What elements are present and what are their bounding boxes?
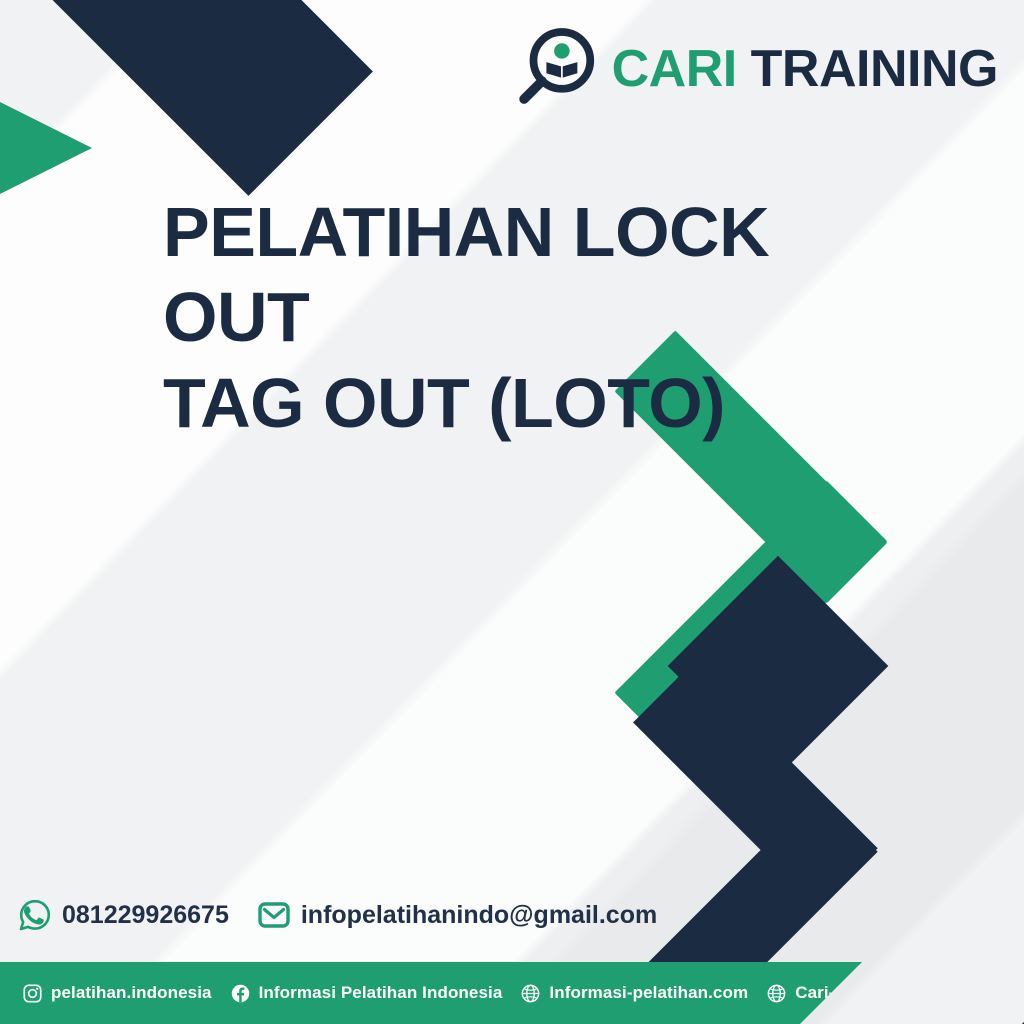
whatsapp-icon — [18, 898, 52, 932]
footer-instagram-handle: pelatihan.indonesia — [51, 983, 212, 1003]
email-icon — [257, 898, 291, 932]
page-title: PELATIHAN LOCK OUT TAG OUT (LOTO) — [163, 190, 923, 446]
instagram-icon — [22, 983, 43, 1004]
page-title-line-1: PELATIHAN LOCK OUT — [163, 190, 923, 361]
footer-item-instagram[interactable]: pelatihan.indonesia — [22, 983, 212, 1004]
contact-email[interactable]: infopelatihanindo@gmail.com — [257, 898, 657, 932]
facebook-icon — [230, 983, 251, 1004]
decor-right-navy-chevron — [784, 672, 1024, 1002]
contact-whatsapp[interactable]: 081229926675 — [18, 898, 229, 932]
brand-name-part1: CARI — [612, 40, 737, 98]
poster-canvas: CARI TRAINING PELATIHAN LOCK OUT TAG OUT… — [0, 0, 1024, 1024]
contact-bar: 081229926675 infopelatihanindo@gmail.com — [18, 898, 657, 932]
page-title-line-2: TAG OUT (LOTO) — [163, 361, 923, 446]
brand-logo: CARI TRAINING — [512, 26, 998, 112]
contact-email-address: infopelatihanindo@gmail.com — [301, 901, 657, 930]
footer-website-1: Informasi-pelatihan.com — [549, 983, 748, 1003]
magnifier-book-person-icon — [512, 26, 598, 112]
globe-icon — [766, 983, 787, 1004]
brand-wordmark: CARI TRAINING — [612, 43, 998, 95]
footer-item-facebook[interactable]: Informasi Pelatihan Indonesia — [230, 983, 503, 1004]
brand-name-part2: TRAINING — [751, 40, 998, 98]
footer-item-website-1[interactable]: Informasi-pelatihan.com — [520, 983, 748, 1004]
contact-whatsapp-number: 081229926675 — [62, 901, 229, 930]
globe-icon — [520, 983, 541, 1004]
footer-facebook-page: Informasi Pelatihan Indonesia — [259, 983, 503, 1003]
